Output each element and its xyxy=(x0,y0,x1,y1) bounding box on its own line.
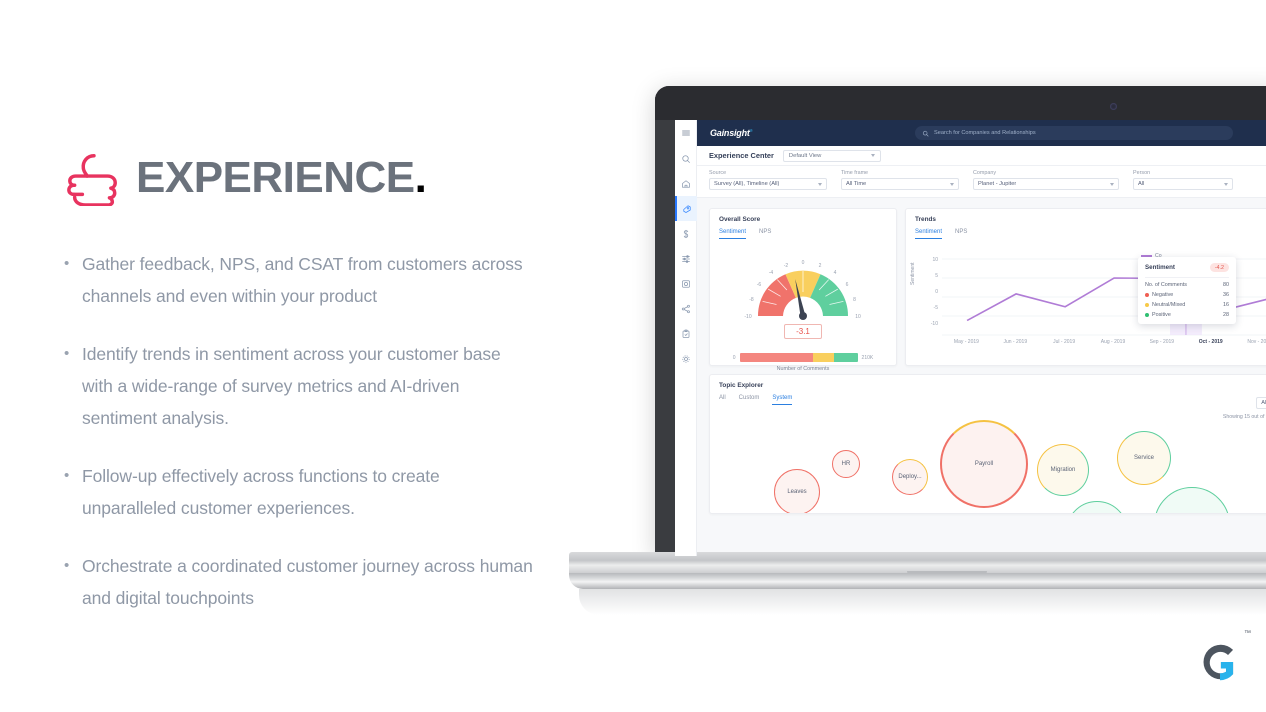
tooltip-row-label: Neutral/Mixed xyxy=(1152,302,1185,308)
bubble-label: HR xyxy=(842,461,851,467)
bubble-hr[interactable]: HR xyxy=(832,450,860,478)
tooltip-row: Positive 28 xyxy=(1145,312,1229,318)
laptop-base xyxy=(569,552,1266,594)
card-title: Trends xyxy=(906,209,1266,223)
experience-center-title: Experience Center xyxy=(709,151,774,160)
sidebar-item-share[interactable] xyxy=(675,296,697,321)
logo-trademark: ™ xyxy=(1244,630,1251,637)
left-content-column: EXPERIENCE. • Gather feedback, NPS, and … xyxy=(64,150,624,640)
sentiment-filter-select[interactable]: All Sen xyxy=(1256,397,1266,409)
bullet-marker: • xyxy=(64,460,82,524)
status-badge: -3.1 xyxy=(784,324,822,339)
tooltip-row-left: Negative xyxy=(1145,292,1173,298)
tooltip-row: Negative 36 xyxy=(1145,292,1229,298)
bubble-migration[interactable]: Migration xyxy=(1037,444,1089,496)
bullet-marker: • xyxy=(64,550,82,614)
filter-bar: Source Survey (All), Timeline (All) Time… xyxy=(697,166,1266,198)
y-axis-label: Sentiment xyxy=(910,262,916,285)
legend-dot-positive xyxy=(1145,313,1149,317)
tooltip-row-label: Negative xyxy=(1152,292,1173,298)
bubble-label: Leaves xyxy=(787,489,806,495)
comments-bar-row: 0 210K xyxy=(710,353,896,362)
filter-person-select[interactable]: All xyxy=(1133,178,1233,190)
filter-label: Source xyxy=(709,170,827,176)
chevron-down-icon xyxy=(1224,183,1228,186)
search-placeholder: Search for Companies and Relationships xyxy=(934,130,1036,136)
sidebar-item-search[interactable] xyxy=(675,146,697,171)
tooltip-comments-row: No. of Comments 80 xyxy=(1145,282,1229,288)
bar-segment-neutral xyxy=(813,353,834,362)
tooltip-comments-value: 80 xyxy=(1223,282,1229,288)
hamburger-icon[interactable] xyxy=(675,120,697,146)
chevron-down-icon xyxy=(1110,183,1114,186)
tab-nps[interactable]: NPS xyxy=(955,229,967,239)
tab-nps[interactable]: NPS xyxy=(759,229,771,239)
tab-all[interactable]: All xyxy=(719,395,726,405)
y-tick: 10 xyxy=(924,257,938,273)
chevron-down-icon xyxy=(818,183,822,186)
svg-text:6: 6 xyxy=(846,282,849,288)
x-tick: Sep - 2019 xyxy=(1137,339,1186,345)
thumbs-up-icon xyxy=(64,150,122,206)
trends-chart-body: Co Sentiment 10 5 0 -5 -10 xyxy=(906,243,1266,353)
topic-explorer-card: Topic Explorer All Custom System All Sen xyxy=(709,374,1266,514)
bubble-green-2[interactable] xyxy=(1154,487,1230,514)
gauge-chart: -10 -8 -6 -4 -2 0 2 4 6 xyxy=(737,246,869,324)
card-title: Overall Score xyxy=(710,209,896,223)
filter-value: Survey (All), Timeline (All) xyxy=(714,181,779,187)
chevron-down-icon xyxy=(950,183,954,186)
filter-value: All xyxy=(1138,181,1144,187)
x-tick: May - 2019 xyxy=(942,339,991,345)
filter-person: Person All xyxy=(1133,170,1233,190)
tooltip-title: Sentiment xyxy=(1145,264,1175,271)
tooltip-header: Sentiment -4.2 xyxy=(1145,263,1229,278)
tab-sentiment[interactable]: Sentiment xyxy=(915,229,942,239)
laptop-lid: Gainsight® Search for Companies and Rela… xyxy=(655,86,1266,556)
bullet-text: Follow-up effectively across functions t… xyxy=(82,460,534,524)
webcam-icon xyxy=(1110,103,1117,110)
bullet-marker: • xyxy=(64,248,82,312)
y-tick: -5 xyxy=(924,305,938,321)
x-tick: Aug - 2019 xyxy=(1089,339,1138,345)
bubble-green-1[interactable] xyxy=(1066,501,1128,514)
svg-text:2: 2 xyxy=(819,263,822,269)
heading-row: EXPERIENCE. xyxy=(64,150,624,206)
tooltip-comments-label: No. of Comments xyxy=(1145,282,1187,288)
slide-root: EXPERIENCE. • Gather feedback, NPS, and … xyxy=(0,0,1266,712)
svg-text:8: 8 xyxy=(853,297,856,303)
sidebar-item-sliders[interactable] xyxy=(675,246,697,271)
y-tick: 0 xyxy=(924,289,938,305)
filter-label: Time frame xyxy=(841,170,959,176)
search-icon xyxy=(922,130,929,137)
brand-label: Gainsight xyxy=(710,128,750,138)
list-item: • Gather feedback, NPS, and CSAT from cu… xyxy=(64,248,624,312)
cards-row-1: Overall Score Sentiment NPS xyxy=(709,208,1266,366)
bullet-text: Gather feedback, NPS, and CSAT from cust… xyxy=(82,248,534,312)
tooltip-row-value: 36 xyxy=(1223,292,1229,298)
sidebar-item-settings[interactable] xyxy=(675,346,697,371)
tooltip-row-left: Positive xyxy=(1145,312,1171,318)
laptop-base-lip xyxy=(569,573,1266,589)
sidebar-item-dashboard[interactable] xyxy=(675,271,697,296)
filter-label: Company xyxy=(973,170,1119,176)
svg-text:-2: -2 xyxy=(784,263,789,269)
bar-segment-negative xyxy=(740,353,813,362)
overall-score-card: Overall Score Sentiment NPS xyxy=(709,208,897,366)
bubble-leaves[interactable]: Leaves xyxy=(774,469,820,514)
svg-text:-6: -6 xyxy=(757,282,762,288)
app-topbar: Gainsight® Search for Companies and Rela… xyxy=(697,120,1266,146)
view-select-value: Default View xyxy=(789,153,821,159)
sentiment-gauge: -10 -8 -6 -4 -2 0 2 4 6 xyxy=(737,246,869,322)
bubble-payroll[interactable]: Payroll xyxy=(940,420,1028,508)
view-select[interactable]: Default View xyxy=(783,150,881,162)
search-input[interactable]: Search for Companies and Relationships xyxy=(915,126,1233,140)
trends-card: Trends Sentiment NPS Co xyxy=(905,208,1266,366)
comments-stacked-bar xyxy=(740,353,858,362)
tab-custom[interactable]: Custom xyxy=(739,395,760,405)
sidebar-item-tasks[interactable] xyxy=(675,321,697,346)
sentiment-filter-value: All Sen xyxy=(1261,400,1266,406)
topic-explorer-tabs: All Custom System xyxy=(710,389,1266,405)
svg-text:10: 10 xyxy=(855,314,861,320)
tab-sentiment[interactable]: Sentiment xyxy=(719,229,746,239)
filter-company: Company Planet - Jupiter xyxy=(973,170,1119,190)
laptop-bezel xyxy=(655,86,1266,120)
trends-tabs: Sentiment NPS xyxy=(906,223,1266,239)
bubble-label: Migration xyxy=(1051,467,1076,473)
list-item: • Identify trends in sentiment across yo… xyxy=(64,338,624,434)
bubble-service[interactable]: Service xyxy=(1117,431,1171,485)
topic-bubble-chart: Leaves HR Deploy... Payroll xyxy=(710,417,1266,514)
tab-system[interactable]: System xyxy=(772,395,792,405)
dashboard-cards: Overall Score Sentiment NPS xyxy=(697,202,1266,556)
bullet-marker: • xyxy=(64,338,82,434)
x-tick: Jul - 2019 xyxy=(1040,339,1089,345)
filter-company-select[interactable]: Planet - Jupiter xyxy=(973,178,1119,190)
chevron-down-icon xyxy=(871,154,875,157)
svg-text:-8: -8 xyxy=(749,297,754,303)
chart-tooltip: Sentiment -4.2 No. of Comments 80 xyxy=(1138,257,1236,324)
tooltip-row: Neutral/Mixed 16 xyxy=(1145,302,1229,308)
x-axis-ticks: May - 2019 Jun - 2019 Jul - 2019 Aug - 2… xyxy=(942,339,1266,345)
filter-timeframe: Time frame All Time xyxy=(841,170,959,190)
app-subheader: Experience Center Default View xyxy=(697,146,1266,166)
svg-text:0: 0 xyxy=(802,260,805,266)
bullet-list: • Gather feedback, NPS, and CSAT from cu… xyxy=(64,248,624,614)
filter-value: All Time xyxy=(846,181,866,187)
gainsight-app: Gainsight® Search for Companies and Rela… xyxy=(675,120,1266,556)
filter-source-select[interactable]: Survey (All), Timeline (All) xyxy=(709,178,827,190)
gainsight-logo: Gainsight® xyxy=(710,128,752,138)
filter-source: Source Survey (All), Timeline (All) xyxy=(709,170,827,190)
sidebar-item-revenue[interactable] xyxy=(675,221,697,246)
svg-text:-4: -4 xyxy=(769,270,774,276)
gainsight-g-logo xyxy=(1192,634,1248,690)
list-item: • Orchestrate a coordinated customer jou… xyxy=(64,550,624,614)
bubble-label: Service xyxy=(1134,455,1154,461)
filter-label: Person xyxy=(1133,170,1233,176)
comments-min-label: 0 xyxy=(733,355,736,361)
comments-max-label: 210K xyxy=(862,355,874,361)
tooltip-row-label: Positive xyxy=(1152,312,1171,318)
bullet-text: Orchestrate a coordinated customer journ… xyxy=(82,550,534,614)
list-item: • Follow-up effectively across functions… xyxy=(64,460,624,524)
laptop-screen: Gainsight® Search for Companies and Rela… xyxy=(675,120,1266,556)
brand-tm: ® xyxy=(750,128,753,133)
legend-dot-neutral xyxy=(1145,303,1149,307)
svg-text:4: 4 xyxy=(834,270,837,276)
card-title: Topic Explorer xyxy=(710,375,1266,389)
heading-period: . xyxy=(415,153,427,202)
x-tick: Jun - 2019 xyxy=(991,339,1040,345)
bubble-label: Deploy... xyxy=(898,474,921,480)
y-tick: -10 xyxy=(924,321,938,337)
sidebar-item-home[interactable] xyxy=(675,171,697,196)
y-tick: 5 xyxy=(924,273,938,289)
app-sidebar xyxy=(675,120,697,556)
laptop-reflection xyxy=(579,589,1266,615)
heading-label: EXPERIENCE xyxy=(136,153,415,202)
x-tick: Nov - 2019 xyxy=(1235,339,1266,345)
y-axis-ticks: 10 5 0 -5 -10 xyxy=(924,257,938,337)
filter-value: Planet - Jupiter xyxy=(978,181,1016,187)
tooltip-value: -4.2 xyxy=(1210,263,1229,272)
legend-dot-negative xyxy=(1145,293,1149,297)
svg-text:-10: -10 xyxy=(744,314,751,320)
tooltip-row-value: 16 xyxy=(1223,302,1229,308)
overall-score-tabs: Sentiment NPS xyxy=(710,223,896,239)
bubble-label: Payroll xyxy=(975,461,993,467)
bar-segment-positive xyxy=(834,353,858,362)
laptop-mockup: Gainsight® Search for Companies and Rela… xyxy=(569,86,1266,626)
x-tick-current: Oct - 2019 xyxy=(1186,339,1235,345)
comments-caption: Number of Comments xyxy=(710,366,896,372)
sidebar-item-experience[interactable] xyxy=(675,196,697,221)
bullet-text: Identify trends in sentiment across your… xyxy=(82,338,534,434)
tooltip-row-left: Neutral/Mixed xyxy=(1145,302,1185,308)
bubble-deployment[interactable]: Deploy... xyxy=(892,459,928,495)
filter-timeframe-select[interactable]: All Time xyxy=(841,178,959,190)
page-title: EXPERIENCE. xyxy=(136,156,426,200)
tooltip-row-value: 28 xyxy=(1223,312,1229,318)
